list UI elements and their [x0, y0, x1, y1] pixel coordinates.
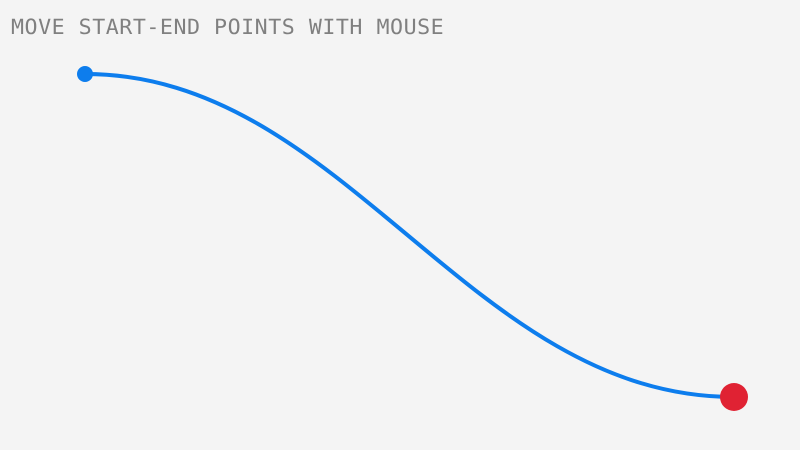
end-point-drag-target[interactable] — [720, 383, 748, 411]
curve-canvas[interactable] — [0, 0, 800, 450]
bezier-curve — [85, 74, 734, 397]
start-point-drag-target[interactable] — [77, 66, 93, 82]
bezier-canvas-stage: MOVE START-END POINTS WITH MOUSE — [0, 0, 800, 450]
